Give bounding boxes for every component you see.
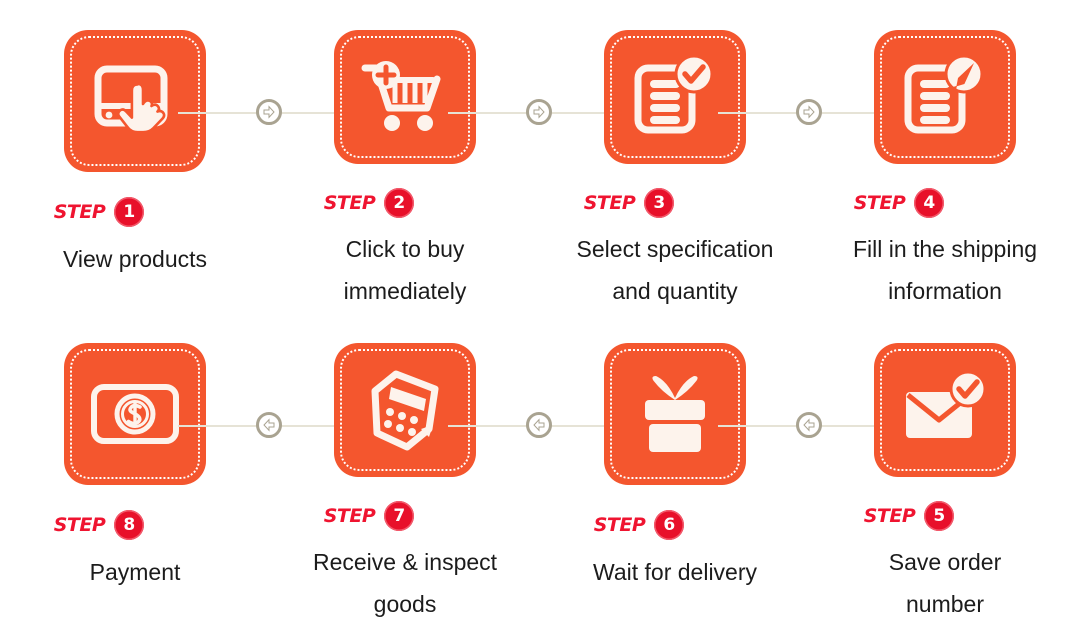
flow-step-5[interactable]: STEP 5 Save order number xyxy=(810,313,1080,626)
shopping-cart-plus-icon xyxy=(359,56,451,138)
step-caption: View products xyxy=(15,239,255,281)
step-word-label: STEP xyxy=(864,507,916,526)
step-badge-group-2: STEP 2 xyxy=(324,188,415,218)
step-word-label: STEP xyxy=(54,516,106,535)
document-pen-icon xyxy=(901,55,989,139)
step-caption: Wait for delivery xyxy=(555,552,795,594)
step-number-badge: 5 xyxy=(924,501,954,531)
document-check-icon xyxy=(631,55,719,139)
step-badge-group-7: STEP 7 xyxy=(324,501,415,531)
tablet-pointer-icon xyxy=(92,64,178,138)
step-word-label: STEP xyxy=(854,194,906,213)
step-badge-group-4: STEP 4 xyxy=(854,188,945,218)
step-badge-group-3: STEP 3 xyxy=(584,188,675,218)
flow-step-3[interactable]: STEP 3 Select specification and quantity xyxy=(540,0,810,313)
step-tile-4[interactable] xyxy=(874,30,1016,164)
step-word-label: STEP xyxy=(324,507,376,526)
step-badge-group-1: STEP 1 xyxy=(54,196,145,228)
gift-box-icon xyxy=(633,373,717,455)
step-number-badge: 1 xyxy=(114,197,144,227)
step-caption: Fill in the shipping information xyxy=(825,229,1065,313)
step-tile-3[interactable] xyxy=(604,30,746,164)
step-tile-8[interactable] xyxy=(64,343,206,485)
step-caption: Click to buy immediately xyxy=(285,229,525,313)
flow-step-6[interactable]: STEP 6 Wait for delivery xyxy=(540,313,810,626)
step-number-badge: 4 xyxy=(914,188,944,218)
step-number-badge: 6 xyxy=(654,510,684,540)
flow-row-1: STEP 1 View products xyxy=(0,0,1080,313)
flow-step-8[interactable]: STEP 8 Payment xyxy=(0,313,270,626)
step-caption: Save order number xyxy=(825,542,1065,626)
step-word-label: STEP xyxy=(594,516,646,535)
flow-step-2[interactable]: STEP 2 Click to buy immediately xyxy=(270,0,540,313)
banknote-dollar-icon xyxy=(89,381,181,447)
step-badge-group-5: STEP 5 xyxy=(864,501,955,531)
step-number-badge: 8 xyxy=(114,510,144,540)
step-word-label: STEP xyxy=(324,194,376,213)
flow-step-7[interactable]: STEP 7 Receive & inspect goods xyxy=(270,313,540,626)
package-inspect-icon xyxy=(363,367,447,453)
flow-step-4[interactable]: STEP 4 Fill in the shipping information xyxy=(810,0,1080,313)
step-tile-1[interactable] xyxy=(64,30,206,172)
step-tile-7[interactable] xyxy=(334,343,476,477)
step-word-label: STEP xyxy=(54,203,106,222)
step-caption: Receive & inspect goods xyxy=(285,542,525,626)
shopping-process-flowchart: STEP 1 View products xyxy=(0,0,1080,626)
flow-row-2: STEP 8 Payment xyxy=(0,313,1080,626)
step-badge-group-6: STEP 6 xyxy=(594,509,685,541)
step-badge-group-8: STEP 8 xyxy=(54,509,145,541)
step-number-badge: 2 xyxy=(384,188,414,218)
flow-step-1[interactable]: STEP 1 View products xyxy=(0,0,270,313)
step-tile-2[interactable] xyxy=(334,30,476,164)
step-caption: Select specification and quantity xyxy=(555,229,795,313)
step-tile-6[interactable] xyxy=(604,343,746,485)
step-caption: Payment xyxy=(15,552,255,594)
step-number-badge: 7 xyxy=(384,501,414,531)
step-number-badge: 3 xyxy=(644,188,674,218)
envelope-check-icon xyxy=(900,372,990,448)
step-tile-5[interactable] xyxy=(874,343,1016,477)
step-word-label: STEP xyxy=(584,194,636,213)
